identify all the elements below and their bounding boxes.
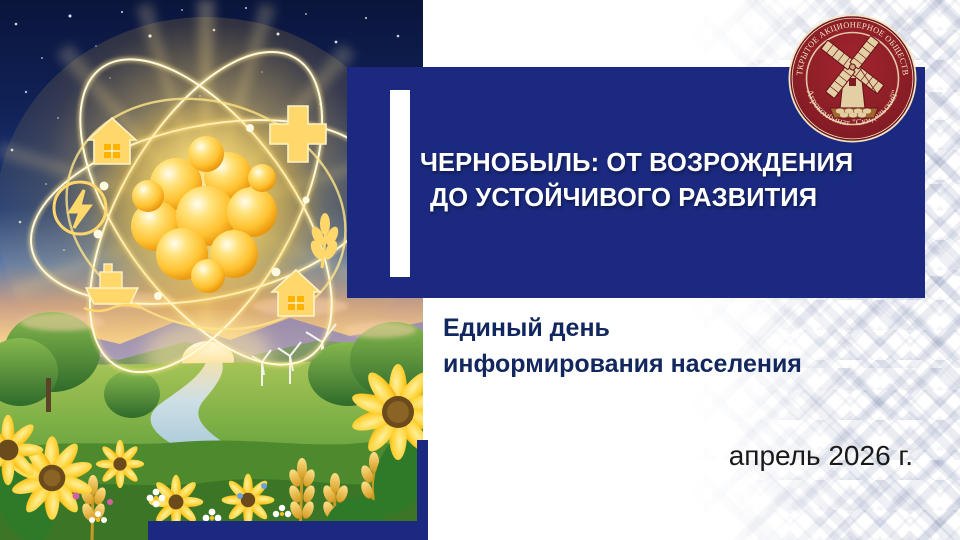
slide-title-line-2: ДО УСТОЙЧИВОГО РАЗВИТИЯ [420, 181, 880, 216]
slide-title: ЧЕРНОБЫЛЬ: ОТ ВОЗРОЖДЕНИЯ ДО УСТОЙЧИВОГО… [420, 146, 880, 215]
slide-subtitle: Единый день информирования населения [443, 311, 913, 382]
slide-title-line-1: ЧЕРНОБЫЛЬ: ОТ ВОЗРОЖДЕНИЯ [420, 149, 853, 177]
presentation-slide: ЧЕРНОБЫЛЬ: ОТ ВОЗРОЖДЕНИЯ ДО УСТОЙЧИВОГО… [0, 0, 960, 540]
title-accent-bar [390, 90, 410, 277]
company-emblem: ОТКРЫТОЕ АКЦИОНЕРНОЕ ОБЩЕСТВО Агрокомбин… [786, 12, 919, 145]
slide-subtitle-line-2: информирования населения [443, 347, 913, 383]
slide-subtitle-line-1: Единый день [443, 311, 913, 347]
blue-accent-bar-horizontal [148, 521, 428, 540]
grain-base [830, 108, 878, 118]
slide-date: апрель 2026 г. [443, 440, 951, 472]
